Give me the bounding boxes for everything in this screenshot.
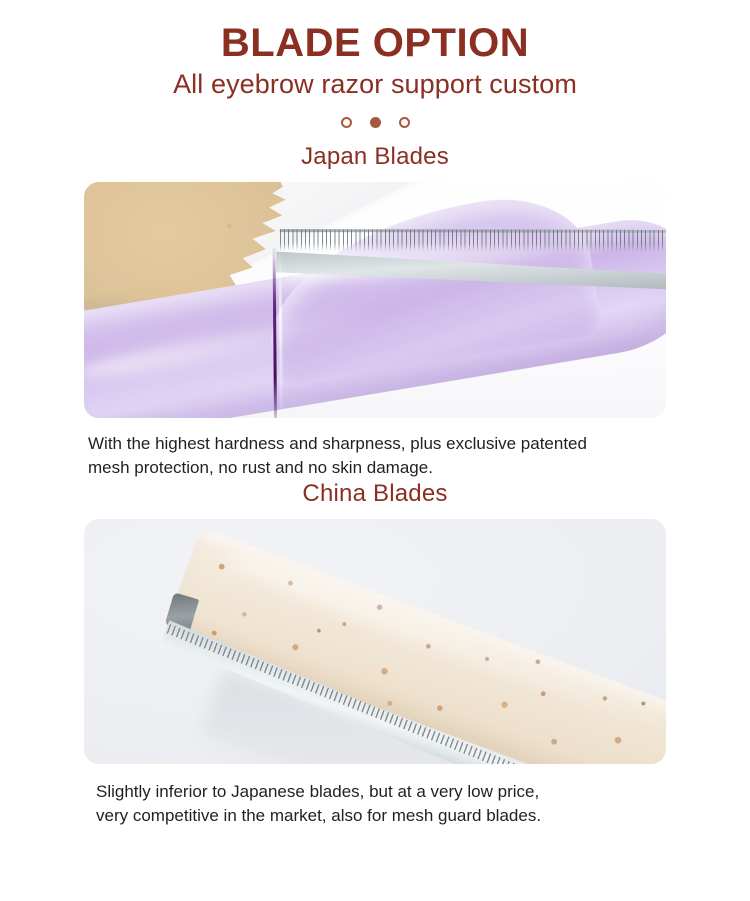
section-heading-china: China Blades — [0, 480, 750, 508]
section-china-blades: China Blades Slightly inferior to Japane… — [0, 480, 750, 828]
description-japan-line-2: mesh protection, no rust and no skin dam… — [88, 456, 688, 480]
product-photo-japan-blade — [84, 182, 666, 418]
section-heading-japan: Japan Blades — [0, 143, 750, 171]
carousel-dot-1[interactable] — [341, 117, 352, 128]
description-japan-line-1: With the highest hardness and sharpness,… — [88, 432, 688, 456]
description-china-line-1: Slightly inferior to Japanese blades, bu… — [96, 780, 696, 804]
page-header: BLADE OPTION All eyebrow razor support c… — [0, 0, 750, 130]
description-china: Slightly inferior to Japanese blades, bu… — [96, 780, 696, 828]
carousel-dot-3[interactable] — [399, 117, 410, 128]
carousel-dot-2-active[interactable] — [370, 117, 381, 128]
page-title: BLADE OPTION — [0, 22, 750, 65]
product-photo-china-blade — [84, 519, 666, 764]
description-japan: With the highest hardness and sharpness,… — [88, 432, 688, 480]
page-subtitle: All eyebrow razor support custom — [0, 68, 750, 102]
description-china-line-2: very competitive in the market, also for… — [96, 804, 696, 828]
carousel-dots — [0, 116, 750, 130]
section-japan-blades: Japan Blades With the highest hardness a… — [0, 143, 750, 480]
blade-mesh-guard-teeth — [280, 229, 666, 252]
